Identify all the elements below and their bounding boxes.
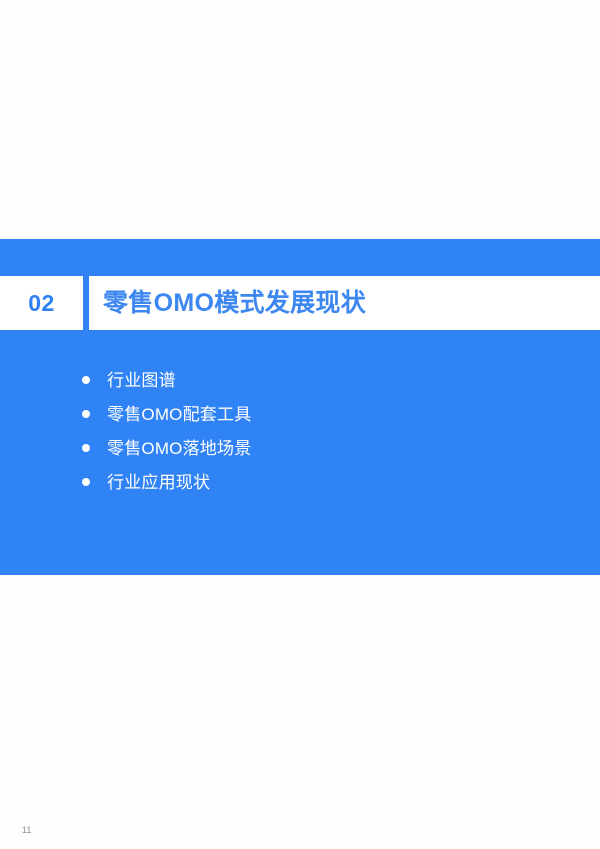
page-number: 11 [22, 826, 31, 835]
section-number-plate: 02 [0, 276, 83, 330]
section-bullet-list: 行业图谱 零售OMO配套工具 零售OMO落地场景 行业应用现状 [82, 363, 251, 499]
bullet-dot-icon [82, 376, 90, 384]
section-title: 零售OMO模式发展现状 [103, 291, 366, 316]
list-item-label: 零售OMO落地场景 [107, 440, 251, 457]
bullet-dot-icon [82, 410, 90, 418]
section-title-plate: 零售OMO模式发展现状 [89, 276, 600, 330]
section-divider-band: 02 零售OMO模式发展现状 行业图谱 零售OMO配套工具 零售OMO落地场景 [0, 239, 600, 575]
bullet-dot-icon [82, 478, 90, 486]
list-item: 零售OMO配套工具 [82, 397, 251, 431]
section-number: 02 [28, 292, 55, 315]
list-item-label: 零售OMO配套工具 [107, 406, 251, 423]
list-item: 零售OMO落地场景 [82, 431, 251, 465]
bullet-dot-icon [82, 444, 90, 452]
list-item: 行业应用现状 [82, 465, 251, 499]
list-item: 行业图谱 [82, 363, 251, 397]
list-item-label: 行业图谱 [107, 372, 176, 389]
section-header-strip: 02 零售OMO模式发展现状 [0, 276, 600, 330]
document-page: 02 零售OMO模式发展现状 行业图谱 零售OMO配套工具 零售OMO落地场景 [0, 0, 600, 849]
list-item-label: 行业应用现状 [107, 474, 210, 491]
